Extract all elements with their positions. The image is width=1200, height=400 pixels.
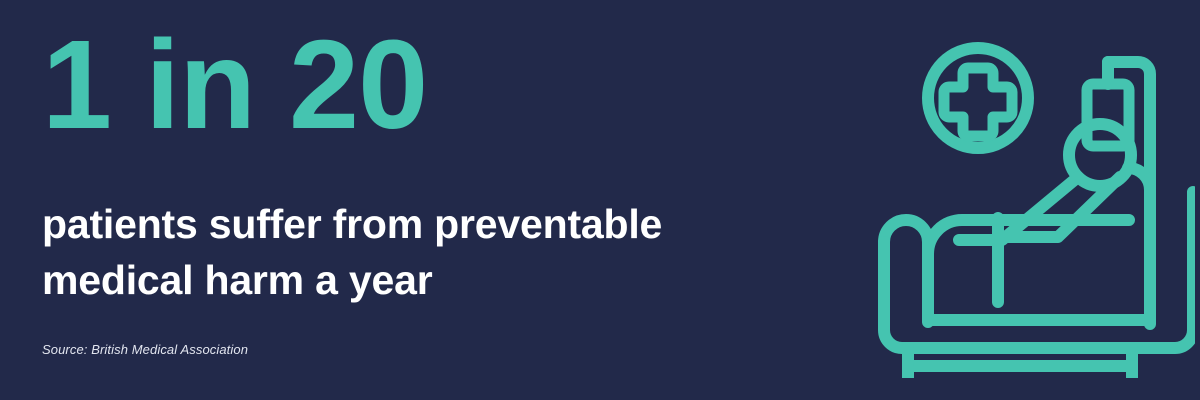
source-attribution: Source: British Medical Association xyxy=(42,342,248,357)
medical-plus-icon xyxy=(944,68,1012,136)
hospital-bed-patient-illustration xyxy=(845,22,1195,378)
statistic-headline: 1 in 20 xyxy=(42,22,427,148)
bed-headboard xyxy=(1128,168,1150,320)
body-text-line-2: medical harm a year xyxy=(42,252,832,308)
body-text: patients suffer from preventable medical… xyxy=(42,196,832,308)
bed-footboard xyxy=(884,220,928,322)
body-text-line-1: patients suffer from preventable xyxy=(42,196,832,252)
medical-cross-badge xyxy=(928,48,1028,148)
infographic-card: 1 in 20 patients suffer from preventable… xyxy=(0,0,1200,400)
text-block: 1 in 20 patients suffer from preventable… xyxy=(42,0,842,400)
